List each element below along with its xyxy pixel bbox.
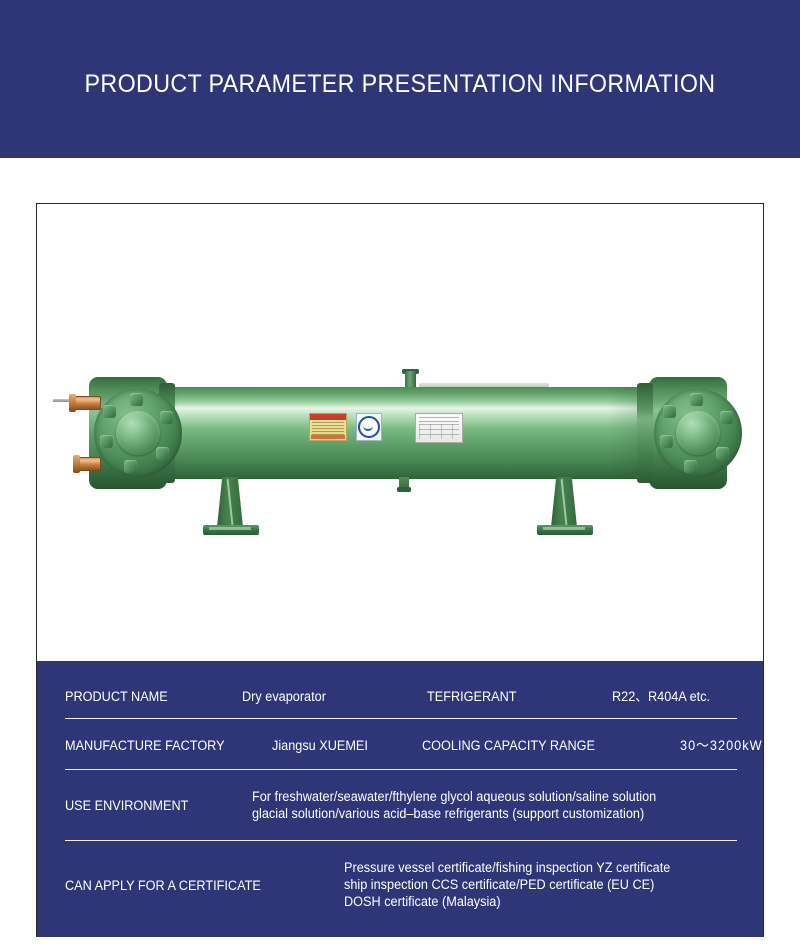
product-photo-frame	[36, 203, 764, 661]
spec-value-certificates: Pressure vessel certificate/fishing insp…	[344, 859, 670, 910]
warning-label-line	[312, 425, 344, 426]
bolt-icon	[660, 435, 673, 448]
row-divider	[65, 718, 737, 719]
right-flange-port-icon	[676, 411, 720, 455]
spec-label-manufacture-factory: MANUFACTURE FACTORY	[65, 737, 225, 754]
certificate-line-2: ship inspection CCS certificate/PED cert…	[344, 876, 670, 893]
bolt-icon	[100, 435, 113, 448]
saddle-support-left	[203, 477, 259, 535]
warning-label-line	[312, 431, 344, 432]
bolt-icon	[103, 405, 116, 418]
warning-label-decal	[309, 413, 347, 441]
certification-badge-icon	[358, 416, 380, 438]
spec-label-product-name: PRODUCT NAME	[65, 688, 168, 705]
row-divider	[65, 840, 737, 841]
warning-label-footer	[311, 435, 345, 439]
product-photo	[37, 204, 763, 661]
left-flange-face	[94, 389, 182, 477]
row-divider	[65, 769, 737, 770]
spec-value-use-environment: For freshwater/seawater/fthylene glycol …	[252, 788, 656, 822]
heat-exchanger-illustration	[47, 369, 757, 549]
spec-table: PRODUCT NAME Dry evaporator TEFRIGERANT …	[36, 661, 764, 937]
bolt-icon	[716, 447, 729, 460]
nameplate-grid	[419, 424, 459, 439]
upper-nozzle-cap-icon	[69, 394, 76, 412]
bolt-icon	[663, 405, 676, 418]
spec-value-cooling-capacity-range: 30～3200kW	[680, 737, 763, 754]
spec-value-refrigerant: R22、R404A etc.	[612, 688, 710, 705]
bolt-icon	[690, 393, 703, 406]
certification-mark-decal	[356, 413, 382, 441]
certificate-line-3: DOSH certificate (Malaysia)	[344, 893, 670, 910]
saddle-support-right	[537, 477, 593, 535]
page-title: PRODUCT PARAMETER PRESENTATION INFORMATI…	[28, 70, 772, 99]
bolt-icon	[160, 411, 173, 424]
lower-nozzle-cap-icon	[73, 455, 80, 473]
left-flange-port-icon	[116, 411, 160, 455]
warning-label-line	[312, 428, 344, 429]
pressure-vessel-shell	[139, 387, 669, 479]
header-banner: PRODUCT PARAMETER PRESENTATION INFORMATI…	[0, 0, 800, 158]
spec-value-product-name: Dry evaporator	[242, 688, 326, 705]
certificate-line-1: Pressure vessel certificate/fishing insp…	[344, 859, 670, 876]
warning-label-header	[310, 414, 346, 420]
spec-label-cooling-capacity-range: COOLING CAPACITY RANGE	[422, 737, 595, 754]
warning-label-line	[312, 422, 344, 423]
bolt-icon	[124, 460, 137, 473]
drain-valve-cap-icon	[397, 487, 411, 492]
right-bonnet-collar	[637, 383, 653, 483]
spec-label-use-environment: USE ENVIRONMENT	[65, 797, 188, 814]
use-environment-line-1: For freshwater/seawater/fthylene glycol …	[252, 788, 656, 805]
nameplate-line	[419, 421, 459, 422]
product-parameter-page: PRODUCT PARAMETER PRESENTATION INFORMATI…	[0, 0, 800, 949]
spec-value-manufacture-factory: Jiangsu XUEMEI	[272, 737, 368, 754]
spec-label-refrigerant: TEFRIGERANT	[427, 688, 517, 705]
spec-label-can-apply-for-a-certificate: CAN APPLY FOR A CERTIFICATE	[65, 877, 261, 894]
support-foot-highlight	[209, 527, 251, 530]
nameplate-decal	[415, 413, 463, 443]
right-flange-face	[654, 389, 742, 477]
bolt-icon	[130, 393, 143, 406]
nameplate-line	[419, 417, 459, 418]
use-environment-line-2: glacial solution/various acid–base refri…	[252, 805, 656, 822]
bolt-icon	[684, 460, 697, 473]
bolt-icon	[720, 411, 733, 424]
bolt-icon	[156, 447, 169, 460]
support-foot-highlight	[543, 527, 585, 530]
